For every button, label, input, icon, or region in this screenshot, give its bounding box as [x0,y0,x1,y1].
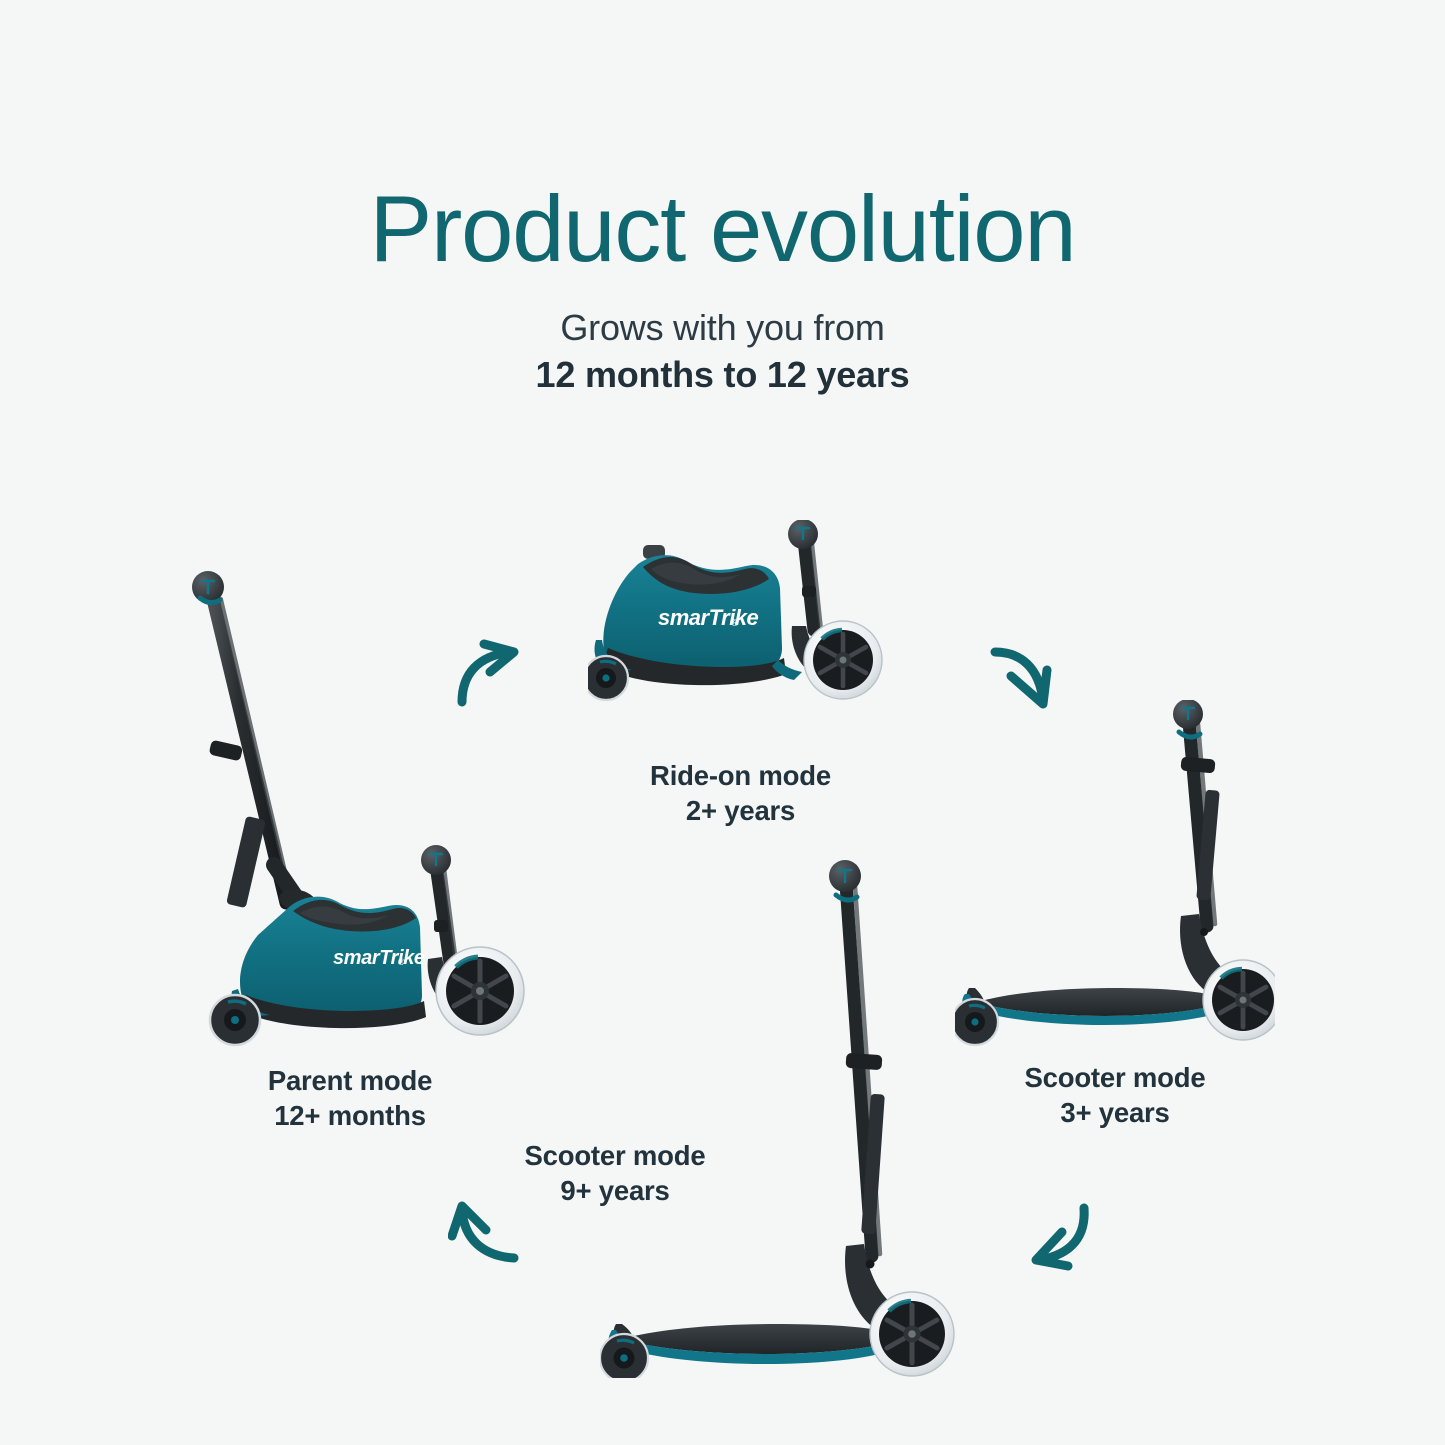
scooter-body: smarTrike ® [595,545,803,685]
front-wheel [588,656,628,700]
stage-caption-parent: Parent mode 12+ months [150,1063,550,1133]
front-wheel [600,1334,648,1378]
stage-caption-ride-on: Ride-on mode 2+ years [588,758,893,828]
stage-scooter-mode-3: Scooter mode 3+ years [955,700,1275,1130]
curved-arrow-icon [1018,1198,1108,1278]
arrow-scooter9-to-parent [448,1198,538,1283]
mode-label: Scooter mode [955,1060,1275,1095]
front-wheel [955,999,998,1045]
scooter-stem [1173,700,1237,992]
arrow-scooter3-to-scooter9 [1018,1198,1108,1283]
scooter-deck [608,1324,886,1364]
mode-label: Ride-on mode [588,758,893,793]
age-label: 3+ years [955,1095,1275,1130]
stage-caption-scooter-3: Scooter mode 3+ years [955,1060,1275,1130]
height-collar [1180,757,1215,774]
curved-arrow-icon [448,1198,538,1278]
push-handle [192,571,319,916]
arrow-rideon-to-scooter3 [985,638,1075,723]
height-collar [845,1053,882,1070]
scooter-deck [962,988,1215,1025]
product-evolution-infographic: Product evolution Grows with you from 12… [0,0,1445,1445]
stage-scooter-mode-9: Scooter mode 9+ years [600,858,960,1378]
mode-label: Scooter mode [480,1138,750,1173]
rear-wheel [436,947,524,1035]
scooter-body: smarTrike ® [232,897,426,1029]
mode-label: Parent mode [150,1063,550,1098]
rear-wheel [870,1292,954,1376]
stage-ride-on-mode: smarTrike ® [588,520,893,828]
page-title: Product evolution [0,180,1445,278]
scooter-mode-3-illustration [955,700,1275,1050]
brand-logo: smarTrike [658,605,759,630]
subtitle-line-2: 12 months to 12 years [0,351,1445,399]
ride-on-mode-scooter-illustration: smarTrike ® [588,520,893,740]
rear-wheel [1203,960,1275,1040]
curved-arrow-icon [985,638,1075,718]
brand-registered-mark: ® [398,957,405,967]
rear-wheel [804,621,882,699]
brand-registered-mark: ® [731,618,739,629]
subtitle-line-1: Grows with you from [0,304,1445,352]
age-label: 2+ years [588,793,893,828]
subtitle: Grows with you from 12 months to 12 year… [0,304,1445,399]
header: Product evolution Grows with you from 12… [0,180,1445,399]
brand-logo: smarTrike [333,947,425,969]
scooter-stem [829,860,906,1328]
arrow-parent-to-rideon [448,630,538,715]
front-wheel [210,995,260,1045]
age-label: 12+ months [150,1098,550,1133]
scooter-mode-9-illustration [600,858,960,1378]
curved-arrow-icon [448,630,538,710]
